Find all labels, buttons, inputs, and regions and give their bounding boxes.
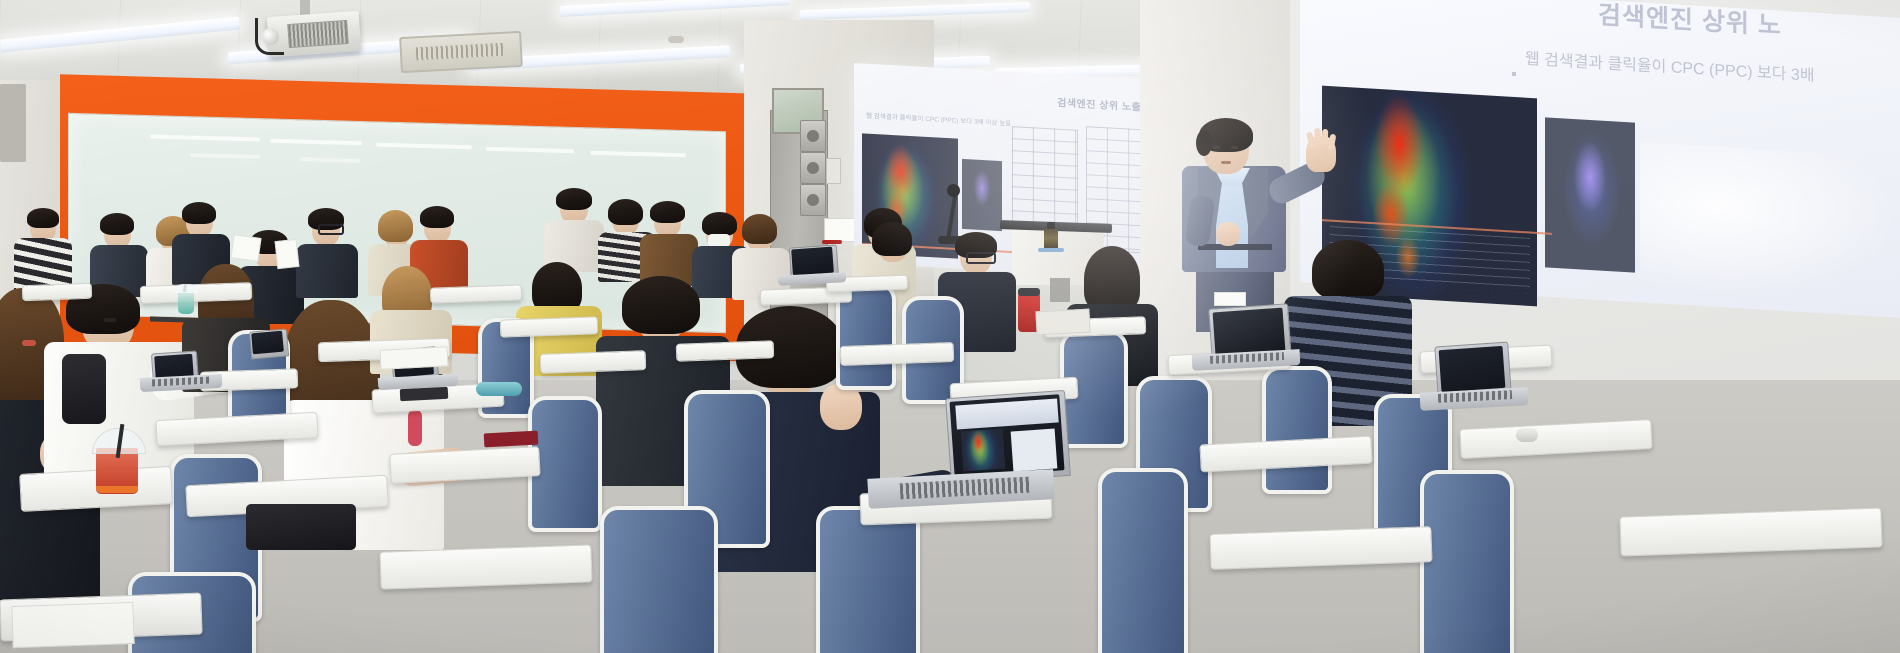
- laptop-screen: [1439, 346, 1506, 392]
- attendee-hair: [182, 202, 216, 224]
- laptop-heatmap-figure: [961, 429, 1006, 472]
- handout-paper: [230, 234, 261, 262]
- wall-speaker-icon: [0, 84, 26, 162]
- slide-heatmap-secondary-left: [962, 159, 1002, 231]
- laptop-screen: [251, 331, 284, 355]
- attendee-hair: [622, 276, 700, 334]
- handout-paper: [380, 346, 449, 370]
- cup-dome-lid: [174, 284, 198, 293]
- classroom-chair[interactable]: [1262, 366, 1332, 494]
- laptop-screen: [791, 247, 834, 276]
- projector-vent: [287, 20, 349, 48]
- air-conditioner-vent-icon: [399, 31, 523, 73]
- wall-sign: [824, 218, 856, 242]
- classroom-chair[interactable]: [600, 506, 718, 653]
- marker-pen-icon: [822, 240, 842, 244]
- tablet-arm-desk: [676, 340, 775, 361]
- projector-cable: [255, 18, 284, 55]
- cup-base: [96, 486, 138, 493]
- smartphone-icon[interactable]: [400, 387, 449, 401]
- classroom-photo: 검색엔진 상위 노출 전략 웹 검색결과 클릭율이 CPC (PPC) 보다 3…: [0, 0, 1900, 653]
- attendee-hair: [420, 206, 454, 228]
- presenter-left-hand: [1216, 222, 1240, 246]
- attendee-hair: [378, 210, 413, 242]
- smartphone-icon[interactable]: [484, 431, 539, 448]
- pencil-case: [476, 382, 522, 396]
- glasses-icon: [318, 224, 344, 235]
- presenter-finger: [1322, 129, 1329, 145]
- tablet-arm-desk: [500, 316, 599, 337]
- thermos-lid: [1018, 288, 1040, 296]
- tablet-arm-desk: [840, 342, 955, 366]
- notebook: [1035, 309, 1090, 336]
- handout-paper: [11, 602, 134, 648]
- attendee-torso: [296, 244, 358, 298]
- tablet-arm-desk: [22, 283, 93, 301]
- tablet-arm-desk: [430, 284, 523, 303]
- lectern-leg: [1050, 278, 1070, 302]
- attendee-hair: [27, 208, 59, 228]
- handout-paper: [275, 239, 300, 269]
- slide-bullet-dot-icon: [1512, 72, 1516, 76]
- attendee-hair: [1084, 246, 1140, 312]
- bottle-icon: [1044, 228, 1058, 250]
- wall-control-panel[interactable]: [826, 158, 841, 184]
- laptop-screen: [1213, 308, 1286, 357]
- bottle-cap: [1047, 222, 1055, 229]
- slide-heatmap-secondary-right: [1545, 117, 1635, 272]
- laptop-slide-panel: [1011, 429, 1058, 472]
- mouse-icon[interactable]: [1516, 428, 1538, 442]
- microphone-icon: [947, 184, 960, 197]
- attendee-lips: [22, 340, 36, 346]
- tablet-arm-desk: [540, 350, 647, 374]
- wall-speaker-icon: [800, 120, 826, 152]
- bag: [62, 354, 106, 424]
- attendee-eye: [104, 318, 116, 322]
- presenter-mouth: [1221, 161, 1231, 164]
- presenter-belt: [1198, 244, 1272, 250]
- attendee-hair: [650, 201, 685, 223]
- backpack: [246, 504, 356, 550]
- attendee-hair: [702, 212, 737, 236]
- bottle-coaster: [1038, 248, 1064, 252]
- attendee-hand: [820, 384, 862, 430]
- presenter-hair-side: [1196, 130, 1212, 156]
- attendee-hair: [556, 188, 592, 210]
- tablet-arm-desk: [379, 544, 592, 589]
- screen-glare: [1640, 142, 1900, 307]
- classroom-chair[interactable]: [1098, 468, 1188, 653]
- attendee-hair: [100, 213, 134, 235]
- presenter-eye: [1213, 146, 1220, 149]
- attendee-hair: [608, 199, 643, 225]
- attendee-hair: [1312, 240, 1384, 300]
- wall-speaker-icon: [800, 152, 826, 184]
- handout-paper: [1214, 292, 1246, 306]
- glasses-icon: [966, 252, 996, 264]
- classroom-chair[interactable]: [816, 506, 920, 653]
- presenter-eye: [1231, 146, 1238, 149]
- shirt-logo: [408, 410, 422, 446]
- attendee-hair: [872, 222, 912, 256]
- attendee-hair: [742, 214, 777, 244]
- ceiling-sensor-icon: [668, 36, 684, 43]
- classroom-chair[interactable]: [1420, 470, 1514, 653]
- wall-speaker-icon: [800, 184, 826, 216]
